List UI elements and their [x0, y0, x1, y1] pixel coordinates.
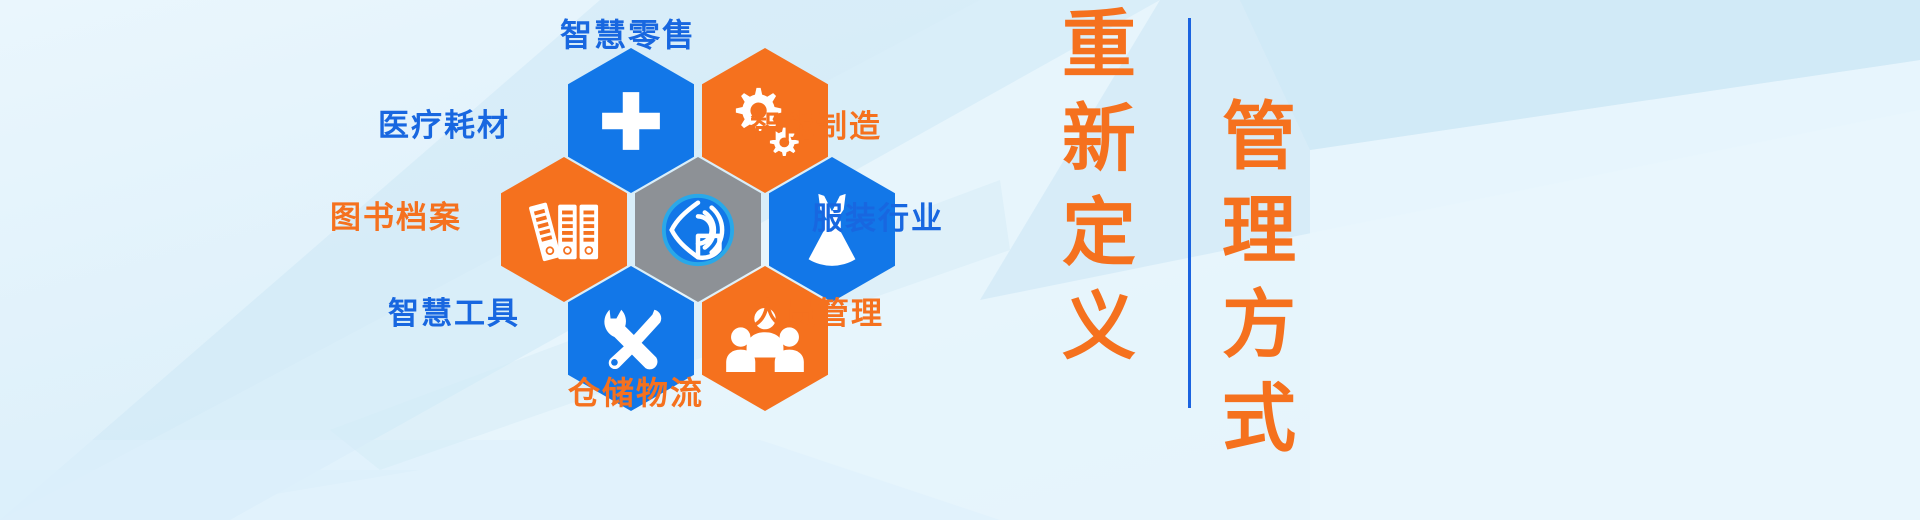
promo-banner: 智慧零售 医疗耗材 智能制造 图书档案 服装行业 智慧工具 人员管理 仓储物流 … [0, 0, 1920, 520]
rfid-signal-icon [659, 191, 737, 269]
calligraphy-char-5: 管 [1222, 100, 1296, 174]
label-smart-tools[interactable]: 智慧工具 [388, 288, 520, 333]
label-library-archives[interactable]: 图书档案 [330, 192, 462, 237]
calligraphy-char-2: 新 [1062, 102, 1136, 176]
calligraphy-char-1: 重 [1062, 8, 1136, 82]
calligraphy-char-6: 理 [1222, 194, 1296, 268]
label-medical-consumables[interactable]: 医疗耗材 [378, 100, 510, 145]
medical-cross-icon [598, 88, 664, 154]
calligraphy-block: 重 新 定 义 管 理 方 式 [1040, 0, 1920, 520]
wrench-screwdriver-icon [594, 302, 668, 376]
calligraphy-divider-line [1188, 18, 1191, 408]
label-personnel-management[interactable]: 人员管理 [752, 288, 884, 333]
label-smart-retail[interactable]: 智慧零售 [560, 10, 696, 56]
calligraphy-char-7: 方 [1222, 288, 1296, 362]
calligraphy-right-column: 管 理 方 式 [1222, 100, 1296, 476]
label-apparel-industry[interactable]: 服装行业 [812, 193, 944, 238]
calligraphy-char-4: 义 [1062, 290, 1136, 364]
calligraphy-char-8: 式 [1222, 382, 1296, 456]
calligraphy-left-column: 重 新 定 义 [1062, 8, 1136, 384]
label-warehouse-logistics[interactable]: 仓储物流 [568, 368, 704, 414]
binders-icon [527, 193, 601, 267]
label-smart-manufacturing[interactable]: 智能制造 [750, 101, 882, 146]
calligraphy-char-3: 定 [1062, 196, 1136, 270]
